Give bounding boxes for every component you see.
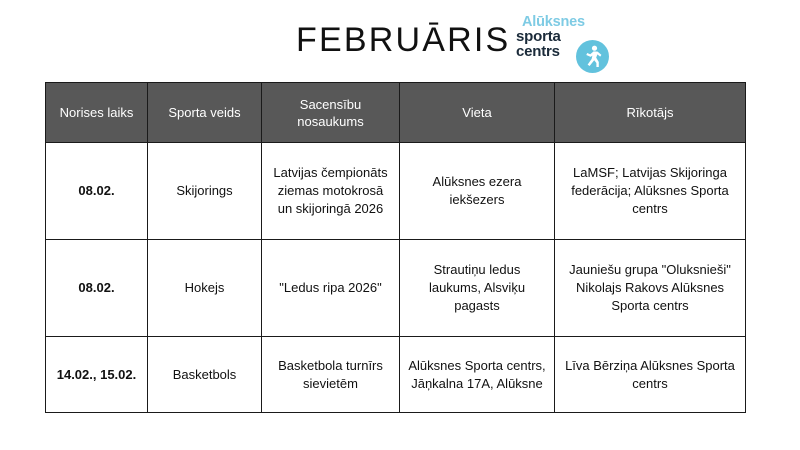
cell-event: "Ledus ripa 2026" — [262, 240, 400, 337]
running-person-icon — [576, 40, 609, 73]
cell-date: 08.02. — [46, 143, 148, 240]
column-header-rikotajs: Rīkotājs — [555, 83, 746, 143]
cell-event: Latvijas čempionāts ziemas motokrosā un … — [262, 143, 400, 240]
table-row: 08.02. Skijorings Latvijas čempionāts zi… — [46, 143, 746, 240]
logo: Alūksnes sporta centrs — [516, 14, 616, 76]
cell-organizer: Jauniešu grupa "Oluksnieši" Nikolajs Rak… — [555, 240, 746, 337]
cell-sport: Basketbols — [148, 337, 262, 413]
cell-event: Basketbola turnīrs sievietēm — [262, 337, 400, 413]
cell-venue: Strautiņu ledus laukums, Alsviķu pagasts — [400, 240, 555, 337]
table-header-row: Norises laiks Sporta veids Sacensību nos… — [46, 83, 746, 143]
column-header-norises-laiks: Norises laiks — [46, 83, 148, 143]
cell-venue: Alūksnes Sporta centrs, Jāņkalna 17A, Al… — [400, 337, 555, 413]
cell-sport: Hokejs — [148, 240, 262, 337]
page-header: FEBRUĀRIS Alūksnes sporta centrs — [0, 0, 800, 78]
column-header-vieta: Vieta — [400, 83, 555, 143]
events-schedule-table: Norises laiks Sporta veids Sacensību nos… — [45, 82, 746, 413]
cell-sport: Skijorings — [148, 143, 262, 240]
column-header-sacensibu-nosaukums: Sacensību nosaukums — [262, 83, 400, 143]
table-row: 14.02., 15.02. Basketbols Basketbola tur… — [46, 337, 746, 413]
table-row: 08.02. Hokejs "Ledus ripa 2026" Strautiņ… — [46, 240, 746, 337]
logo-line-centrs: centrs — [516, 43, 560, 60]
page-title: FEBRUĀRIS — [296, 20, 510, 60]
cell-date: 08.02. — [46, 240, 148, 337]
column-header-sporta-veids: Sporta veids — [148, 83, 262, 143]
cell-organizer: Līva Bērziņa Alūksnes Sporta centrs — [555, 337, 746, 413]
cell-organizer: LaMSF; Latvijas Skijoringa federācija; A… — [555, 143, 746, 240]
cell-venue: Alūksnes ezera iekšezers — [400, 143, 555, 240]
cell-date: 14.02., 15.02. — [46, 337, 148, 413]
